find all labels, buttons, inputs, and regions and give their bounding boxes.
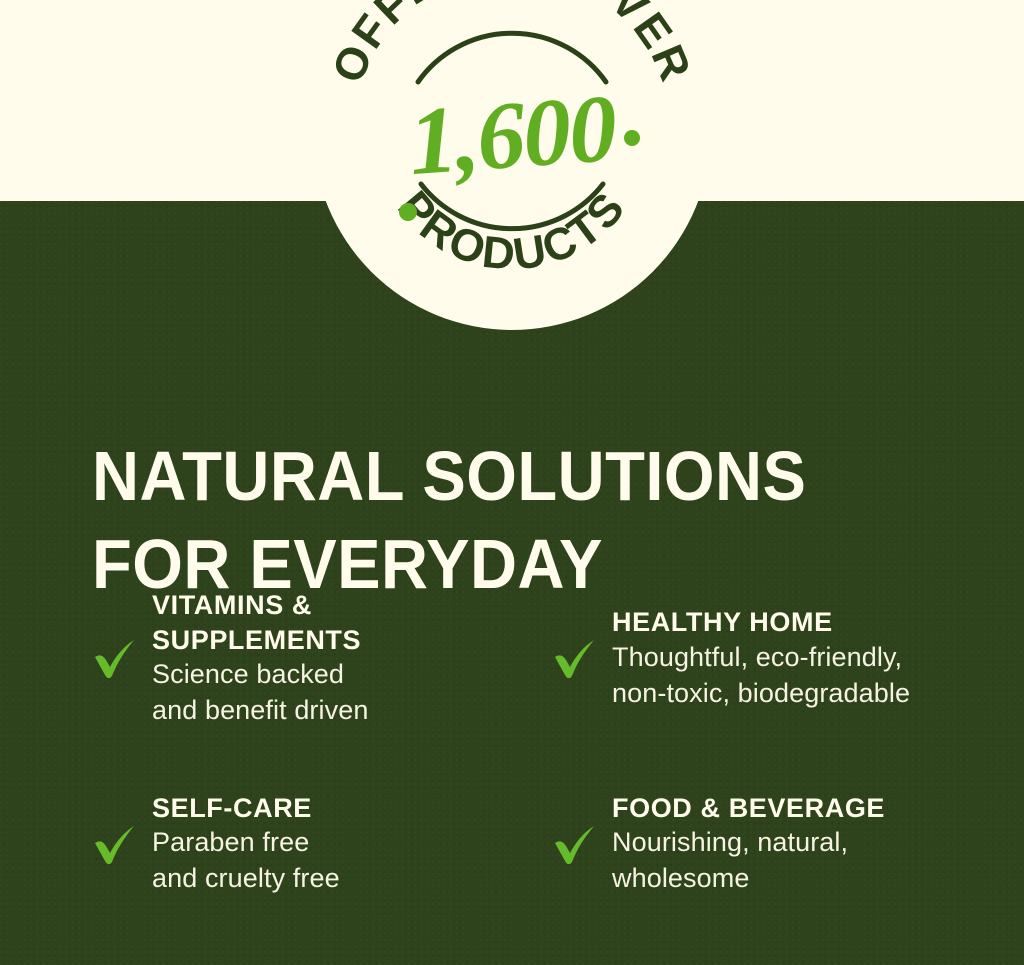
headline-line-1: NATURAL SOLUTIONS [92, 432, 910, 520]
checkmark-icon [92, 821, 138, 867]
product-count-badge: OFFERING OVER PRODUCTS 1,600 [313, 0, 711, 330]
feature-text: FOOD & BEVERAGE Nourishing, natural, who… [612, 791, 885, 897]
badge-top-arc-text: OFFERING OVER [322, 0, 702, 90]
feature-text: VITAMINS & SUPPLEMENTS Science backed an… [152, 588, 368, 729]
feature-title-line-1: VITAMINS & [152, 588, 368, 623]
feature-desc-line-1: Paraben free [152, 825, 340, 861]
feature-desc-line-2: non-toxic, biodegradable [612, 676, 910, 712]
feature-item-vitamins-supplements: VITAMINS & SUPPLEMENTS Science backed an… [92, 588, 552, 729]
badge-dot-left-icon [399, 203, 417, 221]
page-title: NATURAL SOLUTIONS FOR EVERYDAY [92, 432, 910, 608]
feature-item-food-beverage: FOOD & BEVERAGE Nourishing, natural, who… [552, 791, 992, 897]
feature-desc-line-2: and benefit driven [152, 693, 368, 729]
checkmark-icon [552, 821, 598, 867]
promo-poster: OFFERING OVER PRODUCTS 1,600 NATURAL SOL… [0, 0, 1024, 965]
feature-title-line-2: SUPPLEMENTS [152, 623, 368, 658]
checkmark-icon [552, 635, 598, 681]
feature-list: VITAMINS & SUPPLEMENTS Science backed an… [92, 588, 992, 897]
feature-text: SELF-CARE Paraben free and cruelty free [152, 791, 340, 897]
feature-desc-line-1: Science backed [152, 657, 368, 693]
feature-desc-line-1: Thoughtful, eco-friendly, [612, 640, 910, 676]
feature-item-healthy-home: HEALTHY HOME Thoughtful, eco-friendly, n… [552, 588, 992, 729]
feature-item-self-care: SELF-CARE Paraben free and cruelty free [92, 791, 552, 897]
feature-title-line-1: FOOD & BEVERAGE [612, 791, 885, 826]
feature-text: HEALTHY HOME Thoughtful, eco-friendly, n… [612, 605, 910, 711]
badge-inner-arc-top [418, 33, 606, 82]
feature-title-line-1: HEALTHY HOME [612, 605, 910, 640]
feature-desc-line-2: wholesome [612, 861, 885, 897]
feature-title-line-1: SELF-CARE [152, 791, 340, 826]
feature-desc-line-2: and cruelty free [152, 861, 340, 897]
checkmark-icon [92, 635, 138, 681]
feature-desc-line-1: Nourishing, natural, [612, 825, 885, 861]
